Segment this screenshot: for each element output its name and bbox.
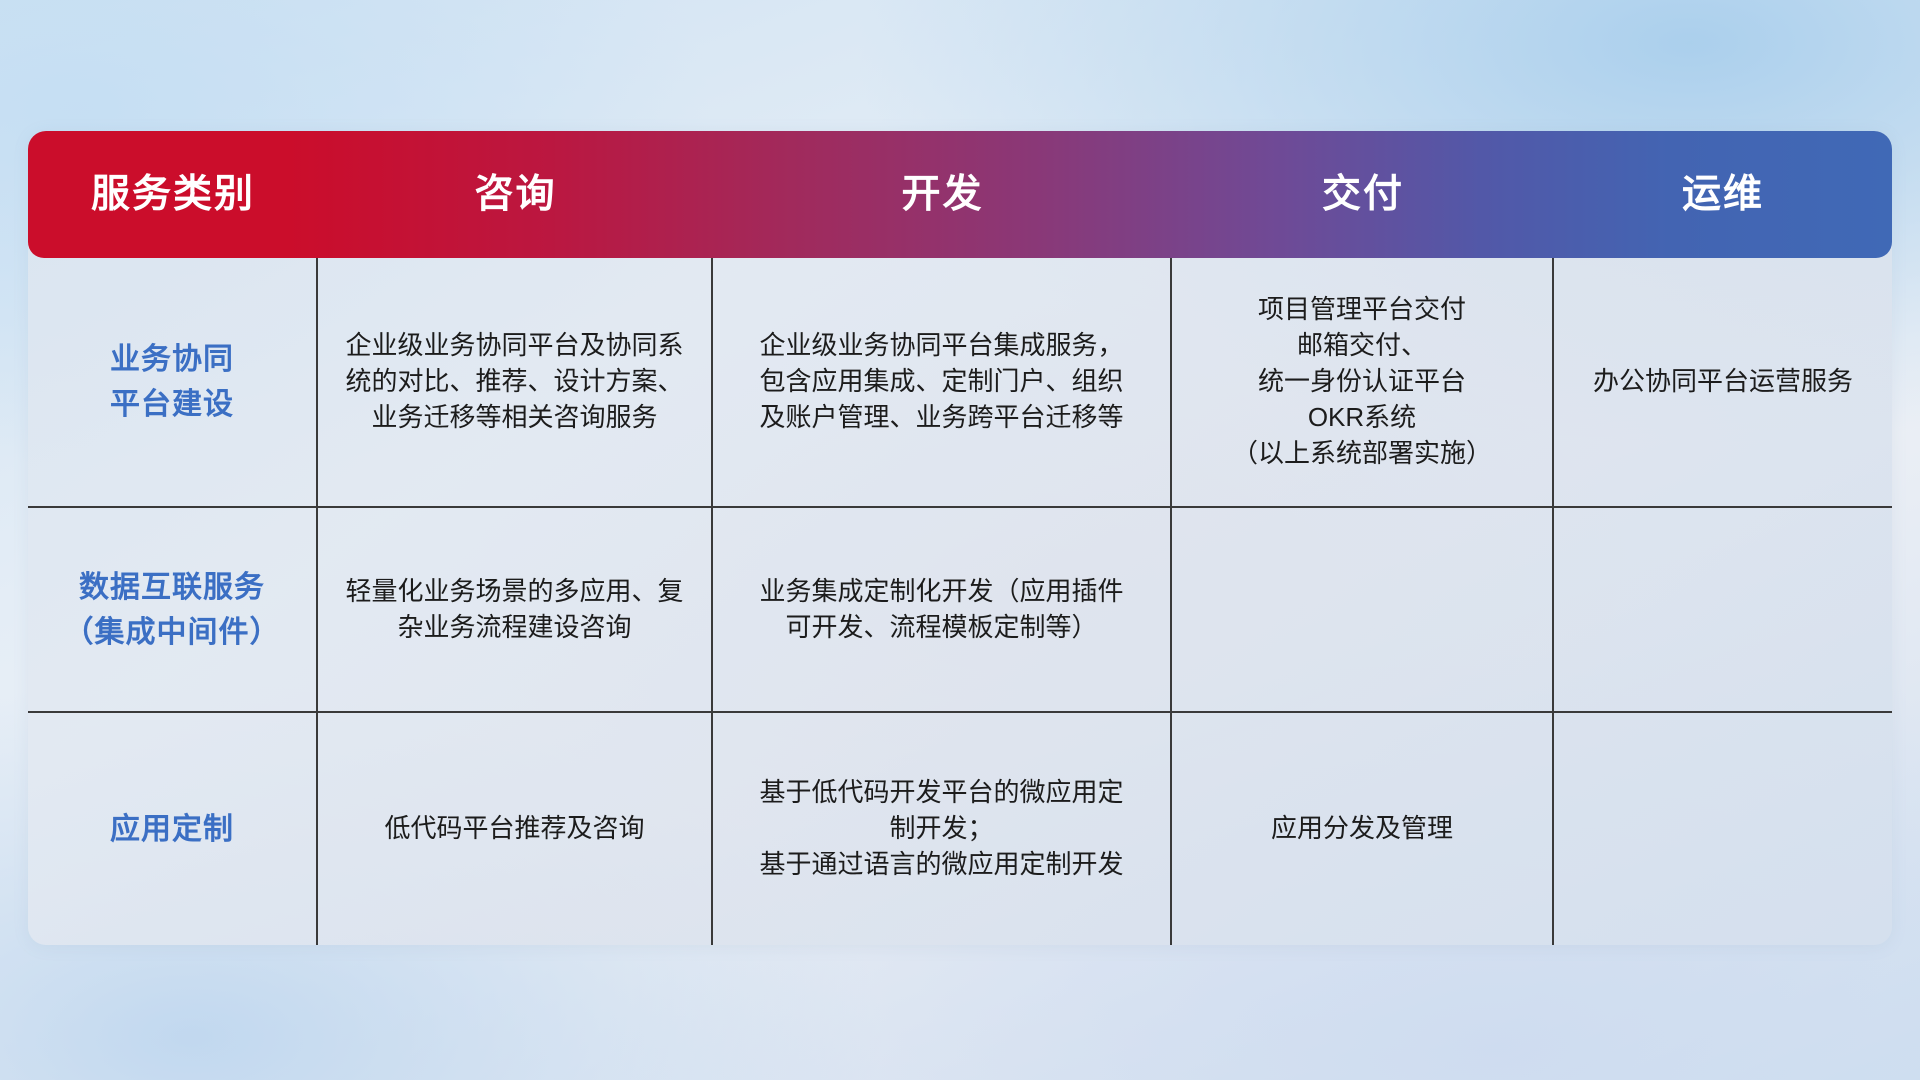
cell-development-row-1: 企业级业务协同平台集成服务， 包含应用集成、定制门户、组织 及账户管理、业务跨平… xyxy=(713,258,1172,506)
cell-operations-row-2 xyxy=(1554,508,1892,711)
cell-operations-row-3 xyxy=(1554,713,1892,945)
column-header-consulting: 咨询 xyxy=(318,175,713,214)
cell-operations-row-1: 办公协同平台运营服务 xyxy=(1554,258,1892,506)
cell-development-row-2: 业务集成定制化开发（应用插件 可开发、流程模板定制等） xyxy=(713,508,1172,711)
row-label-app-customization: 应用定制 xyxy=(28,713,318,945)
cell-development-row-3: 基于低代码开发平台的微应用定 制开发； 基于通过语言的微应用定制开发 xyxy=(713,713,1172,945)
cell-delivery-row-3: 应用分发及管理 xyxy=(1172,713,1554,945)
service-category-table: 服务类别 咨询 开发 交付 运维 业务协同 平台建设 企业级业务协同平台及协同系… xyxy=(28,131,1892,945)
cell-consulting-row-1: 企业级业务协同平台及协同系 统的对比、推荐、设计方案、 业务迁移等相关咨询服务 xyxy=(318,258,713,506)
column-header-category: 服务类别 xyxy=(28,175,318,214)
table-body: 业务协同 平台建设 企业级业务协同平台及协同系 统的对比、推荐、设计方案、 业务… xyxy=(28,258,1892,945)
cell-consulting-row-3: 低代码平台推荐及咨询 xyxy=(318,713,713,945)
table-row: 应用定制 低代码平台推荐及咨询 基于低代码开发平台的微应用定 制开发； 基于通过… xyxy=(28,713,1892,945)
cell-delivery-row-2 xyxy=(1172,508,1554,711)
column-header-operations: 运维 xyxy=(1554,175,1892,214)
table-header-row: 服务类别 咨询 开发 交付 运维 xyxy=(28,131,1892,258)
cell-consulting-row-2: 轻量化业务场景的多应用、复 杂业务流程建设咨询 xyxy=(318,508,713,711)
cell-delivery-row-1: 项目管理平台交付 邮箱交付、 统一身份认证平台 OKR系统 （以上系统部署实施） xyxy=(1172,258,1554,506)
row-label-business-collaboration: 业务协同 平台建设 xyxy=(28,258,318,506)
row-label-data-interconnection: 数据互联服务 （集成中间件） xyxy=(28,508,318,711)
column-header-delivery: 交付 xyxy=(1172,175,1554,214)
table-row: 业务协同 平台建设 企业级业务协同平台及协同系 统的对比、推荐、设计方案、 业务… xyxy=(28,258,1892,508)
table-row: 数据互联服务 （集成中间件） 轻量化业务场景的多应用、复 杂业务流程建设咨询 业… xyxy=(28,508,1892,713)
column-header-development: 开发 xyxy=(713,175,1172,214)
